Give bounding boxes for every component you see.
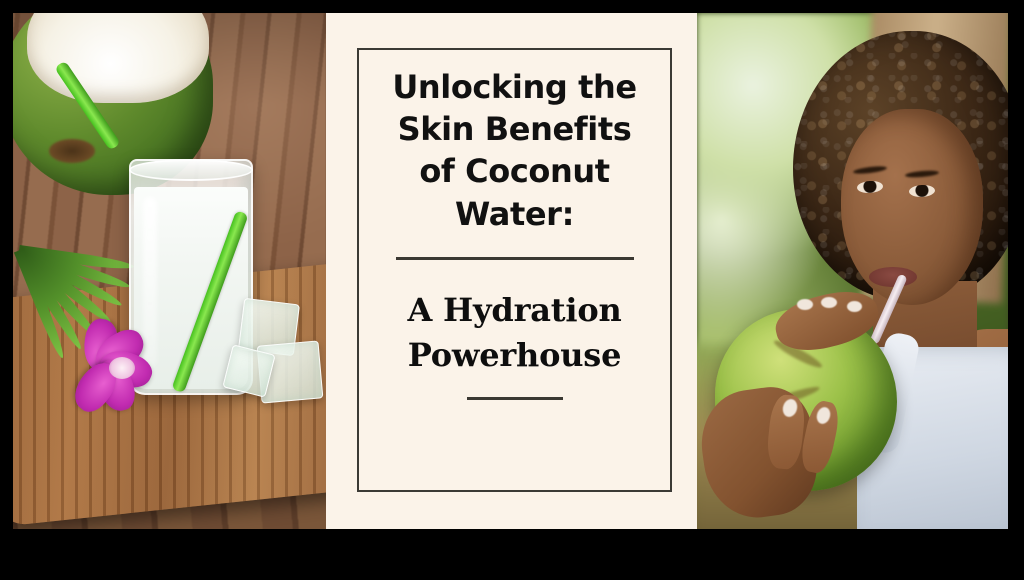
- headline-line-1: Unlocking the: [370, 66, 660, 108]
- lips: [869, 267, 917, 287]
- frame-bottom: [0, 529, 1024, 580]
- left-photo: [13, 13, 326, 529]
- frame-left: [0, 0, 13, 580]
- frame-top: [0, 0, 1024, 13]
- text-stack: Unlocking the Skin Benefits of Coconut W…: [357, 48, 672, 492]
- headline-line-3: of Coconut: [370, 150, 660, 192]
- frame-right: [1008, 0, 1024, 580]
- fingernail: [821, 297, 837, 308]
- purple-orchid-flower: [65, 313, 173, 413]
- coconut-flesh: [27, 13, 209, 103]
- divider-long: [396, 257, 634, 260]
- subhead-line-1: A Hydration: [365, 288, 665, 333]
- poster-canvas: Unlocking the Skin Benefits of Coconut W…: [0, 0, 1024, 580]
- subhead-line-2: Powerhouse: [365, 333, 665, 378]
- headline-line-2: Skin Benefits: [370, 108, 660, 150]
- page-subtitle: A Hydration Powerhouse: [365, 288, 665, 379]
- divider-short: [467, 397, 563, 400]
- glass-rim: [129, 159, 253, 181]
- page-title: Unlocking the Skin Benefits of Coconut W…: [370, 66, 660, 235]
- orchid-center: [109, 357, 135, 379]
- center-text-panel: Unlocking the Skin Benefits of Coconut W…: [326, 0, 697, 580]
- coconut-eye-mark: [49, 139, 95, 163]
- fingernail: [847, 301, 862, 312]
- fingernail: [797, 299, 813, 310]
- headline-line-4: Water:: [370, 193, 660, 235]
- right-photo: [697, 13, 1008, 529]
